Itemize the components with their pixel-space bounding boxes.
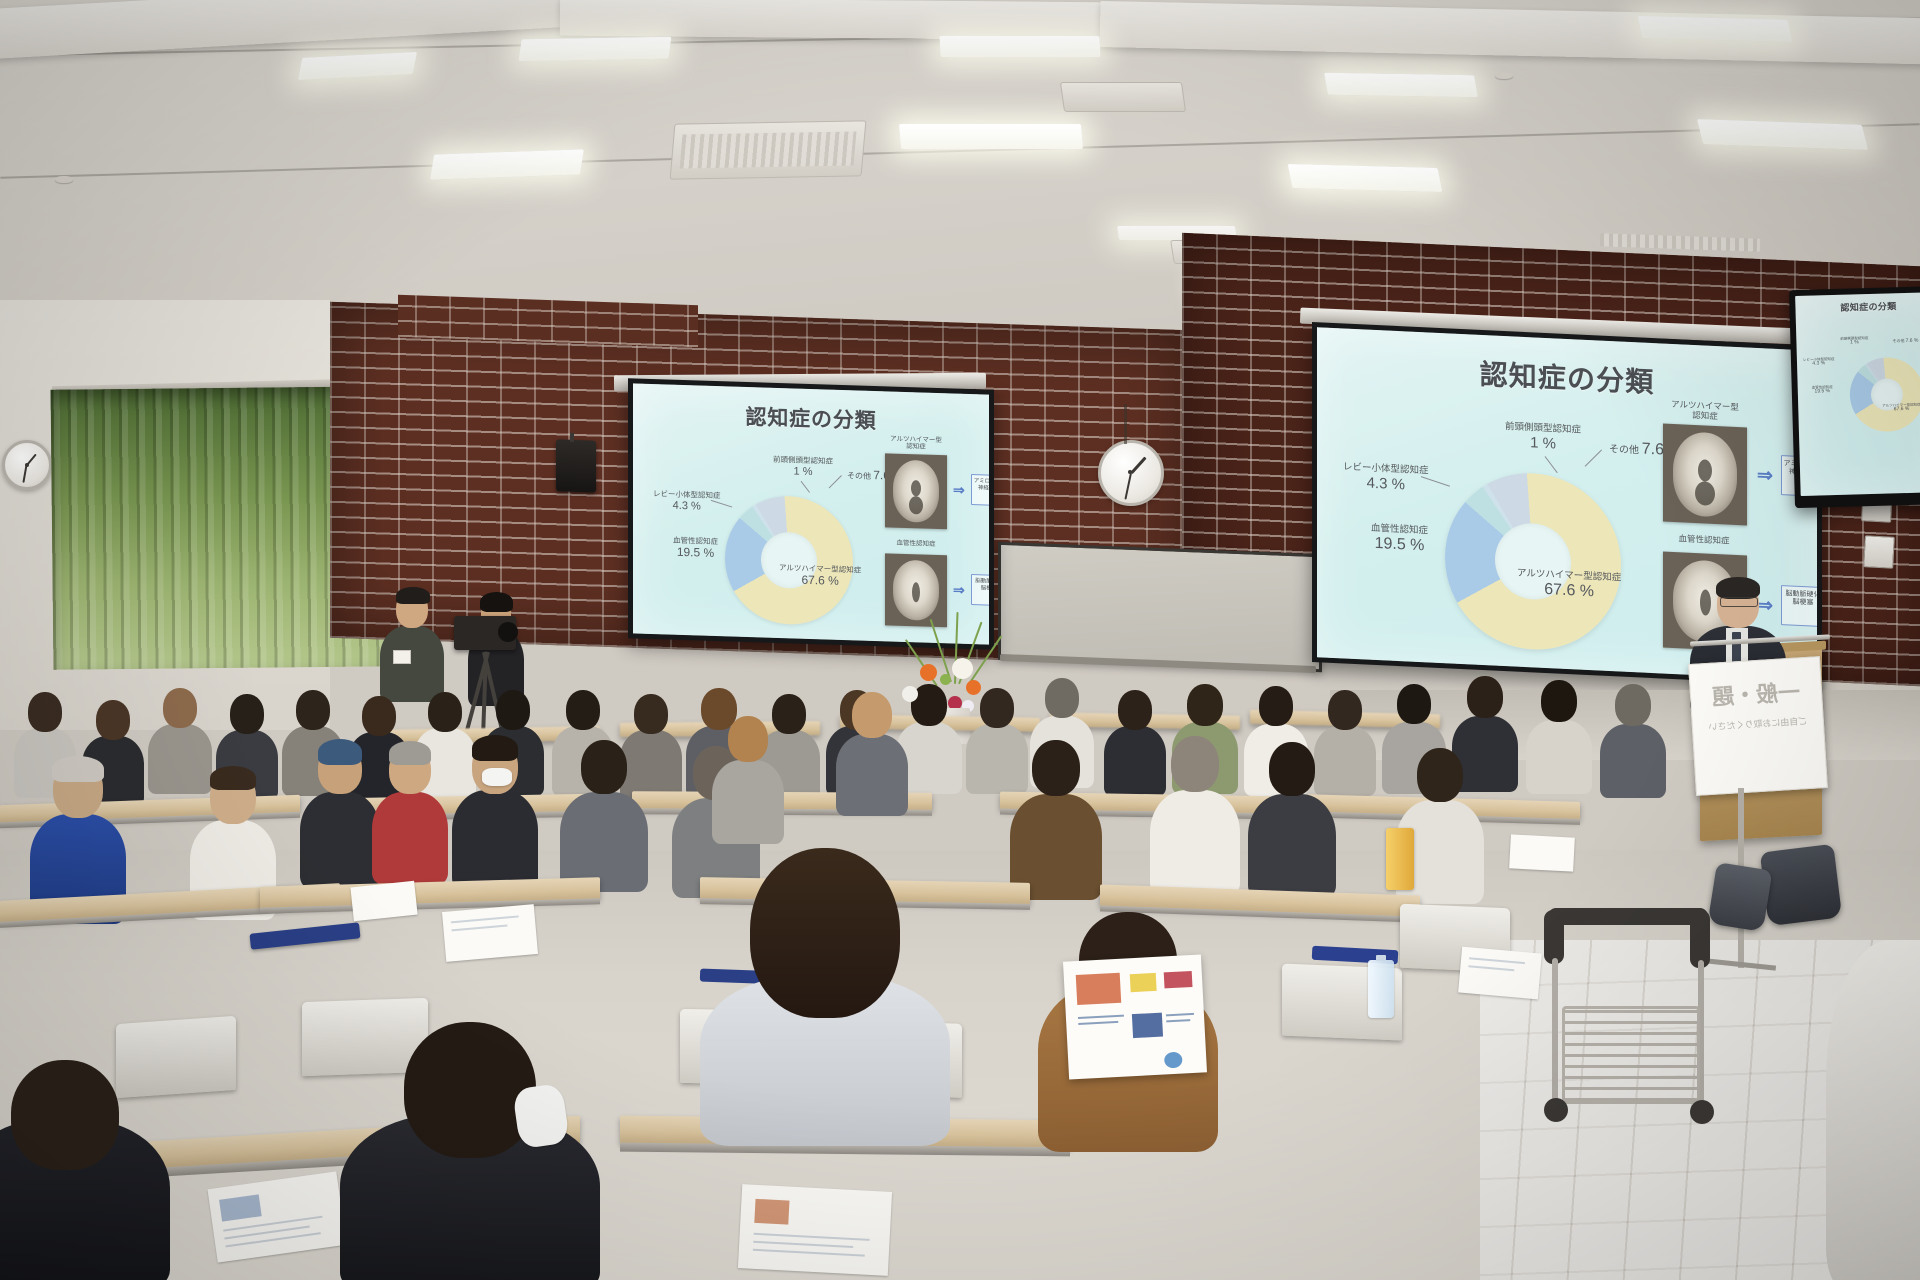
staff-member — [380, 590, 444, 700]
ceiling-light-panel — [1638, 16, 1793, 42]
attendee — [30, 760, 126, 910]
mri-caption-vascular: 血管性認知症 — [881, 539, 951, 549]
handout-paper[interactable] — [738, 1184, 892, 1276]
slide-title: 認知症の分類 — [1840, 299, 1897, 314]
slide-tv: 認知症の分類 前頭側頭型認知症 1 % その他 7.6 % レビー小体型認知症 … — [1795, 292, 1920, 496]
sign-line-2: ご自由にお取りください — [1693, 713, 1824, 734]
rollator-walker — [1540, 900, 1720, 1140]
attendee — [712, 716, 784, 836]
staff-hair — [396, 587, 430, 604]
pie-label-frontotemporal: 前頭側頭型認知症 1 % — [773, 456, 833, 479]
leader-line — [801, 481, 810, 493]
mri-caption-vascular: 血管性認知症 — [1659, 533, 1749, 547]
face-mask — [512, 1083, 570, 1149]
clock-center — [1128, 470, 1132, 474]
arrow-right-icon: ⇒ — [953, 481, 965, 498]
wall-control-panel[interactable] — [1863, 535, 1895, 569]
attendee-foreground — [340, 1022, 600, 1280]
pie-label-lewy: レビー小体型認知症 4.3 % — [1343, 462, 1429, 494]
ventricle — [1698, 459, 1712, 482]
pie-label-vascular: 血管性認知症 19.5 % — [673, 537, 718, 561]
attendee-foreground — [700, 848, 950, 1128]
mri-image-alzheimer — [1663, 424, 1747, 526]
rollator-wheel — [1690, 1100, 1714, 1124]
ventricle — [912, 582, 920, 602]
mri-caption-alzheimer: アルツハイマー型 認知症 — [1649, 399, 1761, 424]
attendee — [1010, 740, 1102, 890]
attendee-grey-hair — [1171, 736, 1219, 792]
handout-bar-chart — [1076, 973, 1122, 1005]
attendee-brown-hair — [728, 716, 768, 762]
arrow-right-icon: ⇒ — [953, 581, 965, 598]
slide-left: 認知症の分類 前頭側頭型認知症 1 % その他 7.6 % レビー小体型認知症 … — [633, 383, 989, 644]
handout-paper[interactable] — [442, 904, 538, 962]
smoke-detector-icon — [1495, 72, 1513, 79]
callout-vascular: 脳動脈硬化 脳梗塞 — [1781, 585, 1817, 627]
pie-label-lewy: レビー小体型認知症 4.3 % — [1803, 357, 1835, 368]
leader-line — [1585, 450, 1602, 467]
rollator-wheel — [1544, 1098, 1568, 1122]
pie-label-alzheimer: アルツハイマー型認知症 67.6 % — [779, 564, 861, 589]
handout-open[interactable] — [1063, 954, 1207, 1079]
arrow-right-icon: ⇒ — [1757, 464, 1773, 488]
water-bottle[interactable] — [1368, 960, 1394, 1018]
mri-caption-alzheimer: アルツハイマー型 認知症 — [873, 435, 959, 453]
attendee — [560, 740, 648, 882]
attendee — [1150, 736, 1240, 886]
pie-label-frontotemporal: 前頭側頭型認知症 1 % — [1505, 422, 1581, 454]
pie-label-alzheimer: アルツハイマー型認知症 67.6 % — [1517, 569, 1621, 603]
flower-bloom — [952, 658, 973, 679]
rollator-handle — [1548, 908, 1708, 925]
clock-minute-hand — [1124, 473, 1132, 500]
dementia-donut-chart — [1445, 469, 1621, 653]
ceiling-soffit — [560, 0, 1120, 40]
ventricle — [1695, 481, 1715, 506]
mri-image-alzheimer — [885, 453, 947, 529]
ceiling-light-panel — [518, 37, 671, 62]
photo-scene: 認知症の分類 前頭側頭型認知症 1 % その他 7.6 % レビー小体型認知症 … — [0, 0, 1920, 1280]
pie-label-vascular: 血管性認知症 19.5 % — [1812, 385, 1833, 395]
hat — [318, 739, 362, 765]
wall-clock — [1098, 440, 1164, 506]
ceiling-light-panel — [939, 36, 1100, 57]
callout-vascular: 脳動脈硬化 脳梗塞 — [971, 574, 989, 606]
operator-hair — [480, 592, 513, 612]
attendee — [300, 744, 380, 880]
presenter-glasses — [1720, 597, 1758, 607]
presenter-hair — [1716, 577, 1760, 599]
clock-minute-hand — [23, 465, 28, 483]
clock-hour-hand — [1130, 457, 1146, 474]
attendee — [1248, 742, 1336, 888]
ac-vent — [1060, 82, 1186, 112]
whiteboard — [998, 542, 1322, 672]
wall-monitor: 認知症の分類 前頭側頭型認知症 1 % その他 7.6 % レビー小体型認知症 … — [1789, 286, 1920, 508]
pie-label-other: その他 7.6 % — [1892, 339, 1918, 345]
wall-clock — [2, 440, 52, 490]
handout-paper[interactable] — [1509, 834, 1575, 871]
attendee-foreground — [1826, 900, 1920, 1280]
dementia-donut-chart — [725, 494, 853, 626]
pie-label-alzheimer: アルツハイマー型認知症 67.6 % — [1882, 403, 1920, 414]
ventricle — [911, 480, 921, 496]
handout-paper[interactable] — [350, 881, 417, 922]
attendee — [372, 746, 448, 876]
pie-label-lewy: レビー小体型認知症 4.3 % — [653, 490, 721, 513]
ceiling-light-panel — [1324, 73, 1478, 98]
drink-bottle[interactable] — [1386, 828, 1414, 890]
ventricle — [909, 496, 923, 514]
callout-amyloid: アミロイドβ 神経変性 — [971, 474, 989, 506]
attendee-foreground — [0, 1060, 170, 1280]
slide-title: 認知症の分類 — [745, 401, 876, 435]
pie-label-vascular: 血管性認知症 19.5 % — [1371, 524, 1428, 556]
podium-sign[interactable]: 一般・題 ご自由にお取りください — [1688, 656, 1828, 796]
slide-title: 認知症の分類 — [1480, 353, 1655, 401]
dementia-donut-chart — [1849, 357, 1920, 433]
clock-center — [25, 463, 29, 467]
camera-lens — [498, 622, 518, 642]
ceiling-light-panel — [1288, 164, 1443, 192]
ac-vent — [670, 120, 867, 179]
grey-hair — [52, 756, 104, 782]
attendee — [1600, 684, 1666, 790]
staff-shirt — [380, 626, 444, 702]
handout-paper[interactable] — [1458, 947, 1542, 1000]
sign-line-1: 一般・題 — [1690, 673, 1822, 713]
pie-label-frontotemporal: 前頭側頭型認知症 1 % — [1840, 336, 1868, 347]
ceiling-light-panel — [899, 124, 1083, 149]
flower-bloom — [920, 664, 937, 681]
wall-speaker — [556, 439, 596, 492]
attendee — [452, 740, 538, 880]
attendee — [836, 692, 908, 808]
rollator-basket — [1562, 1006, 1700, 1104]
ceiling-light-panel — [430, 149, 584, 179]
staff-name-badge — [393, 650, 411, 664]
attendee — [1526, 680, 1592, 788]
leader-line — [1545, 456, 1558, 473]
smoke-detector-icon — [55, 176, 73, 183]
rollator-post — [1552, 958, 1558, 1108]
clock-hanger — [1124, 404, 1127, 444]
rollator-handle-grip — [1544, 910, 1564, 964]
